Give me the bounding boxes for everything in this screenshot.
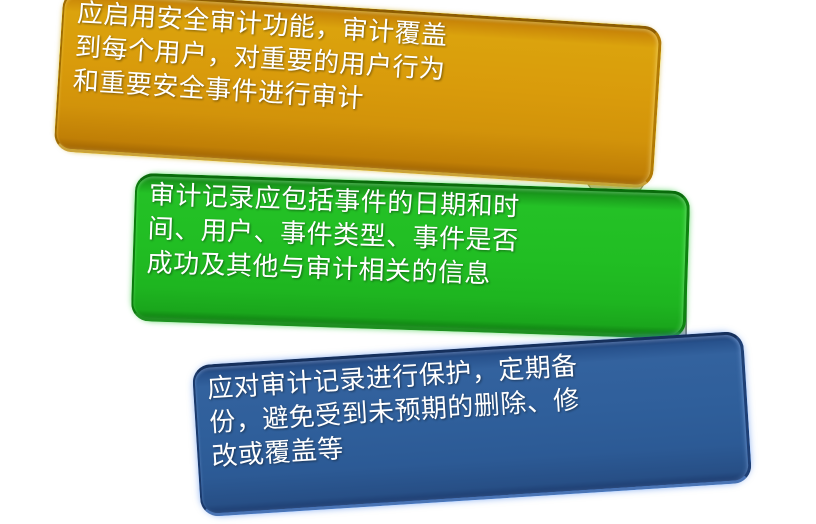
callout-box-audit-enable[interactable]: 应启用安全审计功能，审计覆盖 到每个用户，对重要的用户行为 和重要安全事件进行审… [54, 0, 663, 189]
callout-box-audit-record-content[interactable]: 审计记录应包括事件的日期和时 间、用户、事件类型、事件是否 成功及其他与审计相关… [131, 173, 691, 339]
slide-canvas: 应启用安全审计功能，审计覆盖 到每个用户，对重要的用户行为 和重要安全事件进行审… [0, 0, 816, 524]
callout-box-audit-record-protection[interactable]: 应对审计记录进行保护，定期备 份，避免受到未预期的删除、修 改或覆盖等 [192, 331, 752, 517]
callout-text-audit-record-content: 审计记录应包括事件的日期和时 间、用户、事件类型、事件是否 成功及其他与审计相关… [132, 173, 690, 299]
